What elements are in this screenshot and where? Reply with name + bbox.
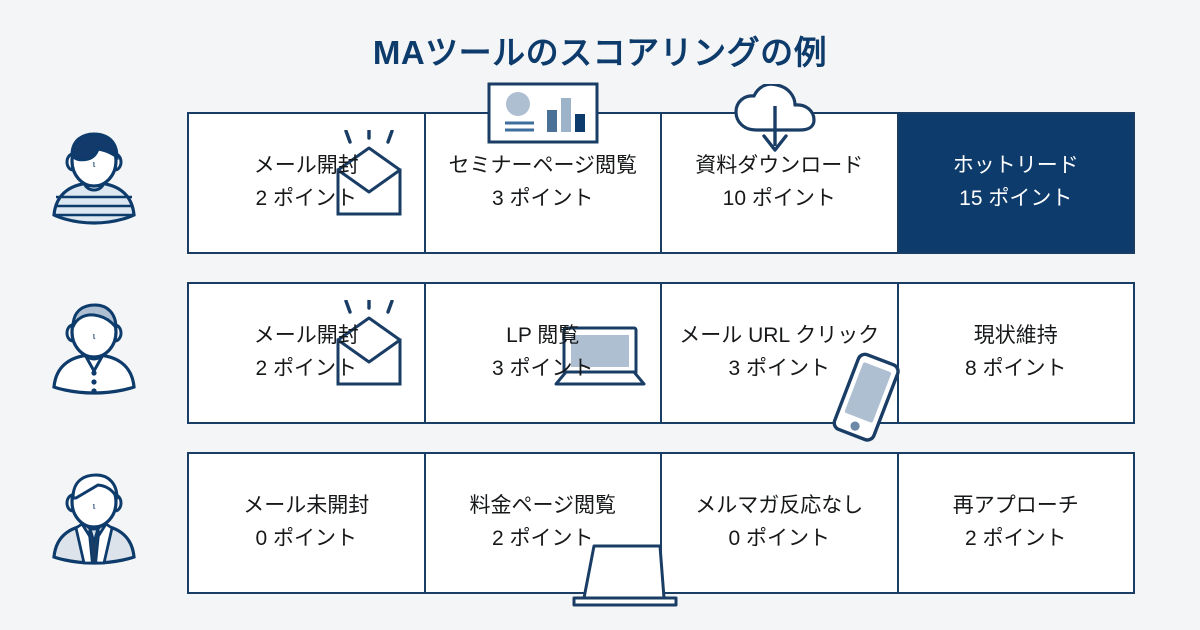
cell-r3c4[interactable]: 再アプローチ 2 ポイント [899, 454, 1134, 592]
cell-r1c4-hot-lead[interactable]: ホットリード 15 ポイント [899, 114, 1134, 252]
cell-label: LP 閲覧 3 ポイント [486, 320, 600, 385]
cell-r2c4[interactable]: 現状維持 8 ポイント [899, 284, 1134, 422]
scoring-matrix: ι メール開封 2 ポイント [0, 112, 1200, 622]
cell-label: 資料ダウンロード 10 ポイント [689, 150, 869, 215]
row-2-cells: メール開封 2 ポイント LP 閲覧 3 ポイント [187, 282, 1135, 424]
scoring-row-3: ι メール未開封 0 ポイント 料金ページ閲覧 2 ポイント メルマガ反応なし … [0, 452, 1200, 594]
cell-label: 再アプローチ 2 ポイント [947, 490, 1085, 555]
cell-label: 現状維持 8 ポイント [959, 320, 1073, 385]
cell-r2c3[interactable]: メール URL クリック 3 ポイント [662, 284, 899, 422]
cell-r3c3[interactable]: メルマガ反応なし 0 ポイント [662, 454, 899, 592]
cell-label: メール開封 2 ポイント [248, 150, 365, 215]
cell-label: 料金ページ閲覧 2 ポイント [463, 490, 622, 555]
svg-text:ι: ι [92, 330, 95, 342]
cell-r1c2[interactable]: セミナーページ閲覧 3 ポイント [426, 114, 663, 252]
person-striped-shirt-avatar: ι [0, 112, 187, 254]
row-1-cells: メール開封 2 ポイント セミナーページ閲覧 3 ポイント [187, 112, 1135, 254]
cell-label: メール URL クリック 3 ポイント [673, 320, 885, 385]
person-suit-avatar: ι [0, 452, 187, 594]
cell-label: メルマガ反応なし 0 ポイント [689, 490, 869, 555]
cell-label: ホットリード 15 ポイント [947, 150, 1085, 215]
person-polo-shirt-avatar: ι [0, 282, 187, 424]
cell-r1c3[interactable]: 資料ダウンロード 10 ポイント [662, 114, 899, 252]
cell-label: メール未開封 0 ポイント [237, 490, 375, 555]
cell-r3c2[interactable]: 料金ページ閲覧 2 ポイント [426, 454, 663, 592]
presentation-chart-icon [487, 82, 599, 144]
cell-r1c1[interactable]: メール開封 2 ポイント [189, 114, 426, 252]
row-3-cells: メール未開封 0 ポイント 料金ページ閲覧 2 ポイント メルマガ反応なし 0 … [187, 452, 1135, 594]
cell-r2c1[interactable]: メール開封 2 ポイント [189, 284, 426, 422]
cell-label: セミナーページ閲覧 3 ポイント [442, 150, 643, 215]
svg-text:ι: ι [92, 158, 95, 170]
cell-label: メール開封 2 ポイント [248, 320, 365, 385]
svg-text:ι: ι [92, 500, 95, 512]
scoring-row-2: ι メール開封 2 ポイント [0, 282, 1200, 424]
cell-r3c1[interactable]: メール未開封 0 ポイント [189, 454, 426, 592]
cell-r2c2[interactable]: LP 閲覧 3 ポイント [426, 284, 663, 422]
page-title: MAツールのスコアリングの例 [0, 26, 1200, 74]
scoring-row-1: ι メール開封 2 ポイント [0, 112, 1200, 254]
